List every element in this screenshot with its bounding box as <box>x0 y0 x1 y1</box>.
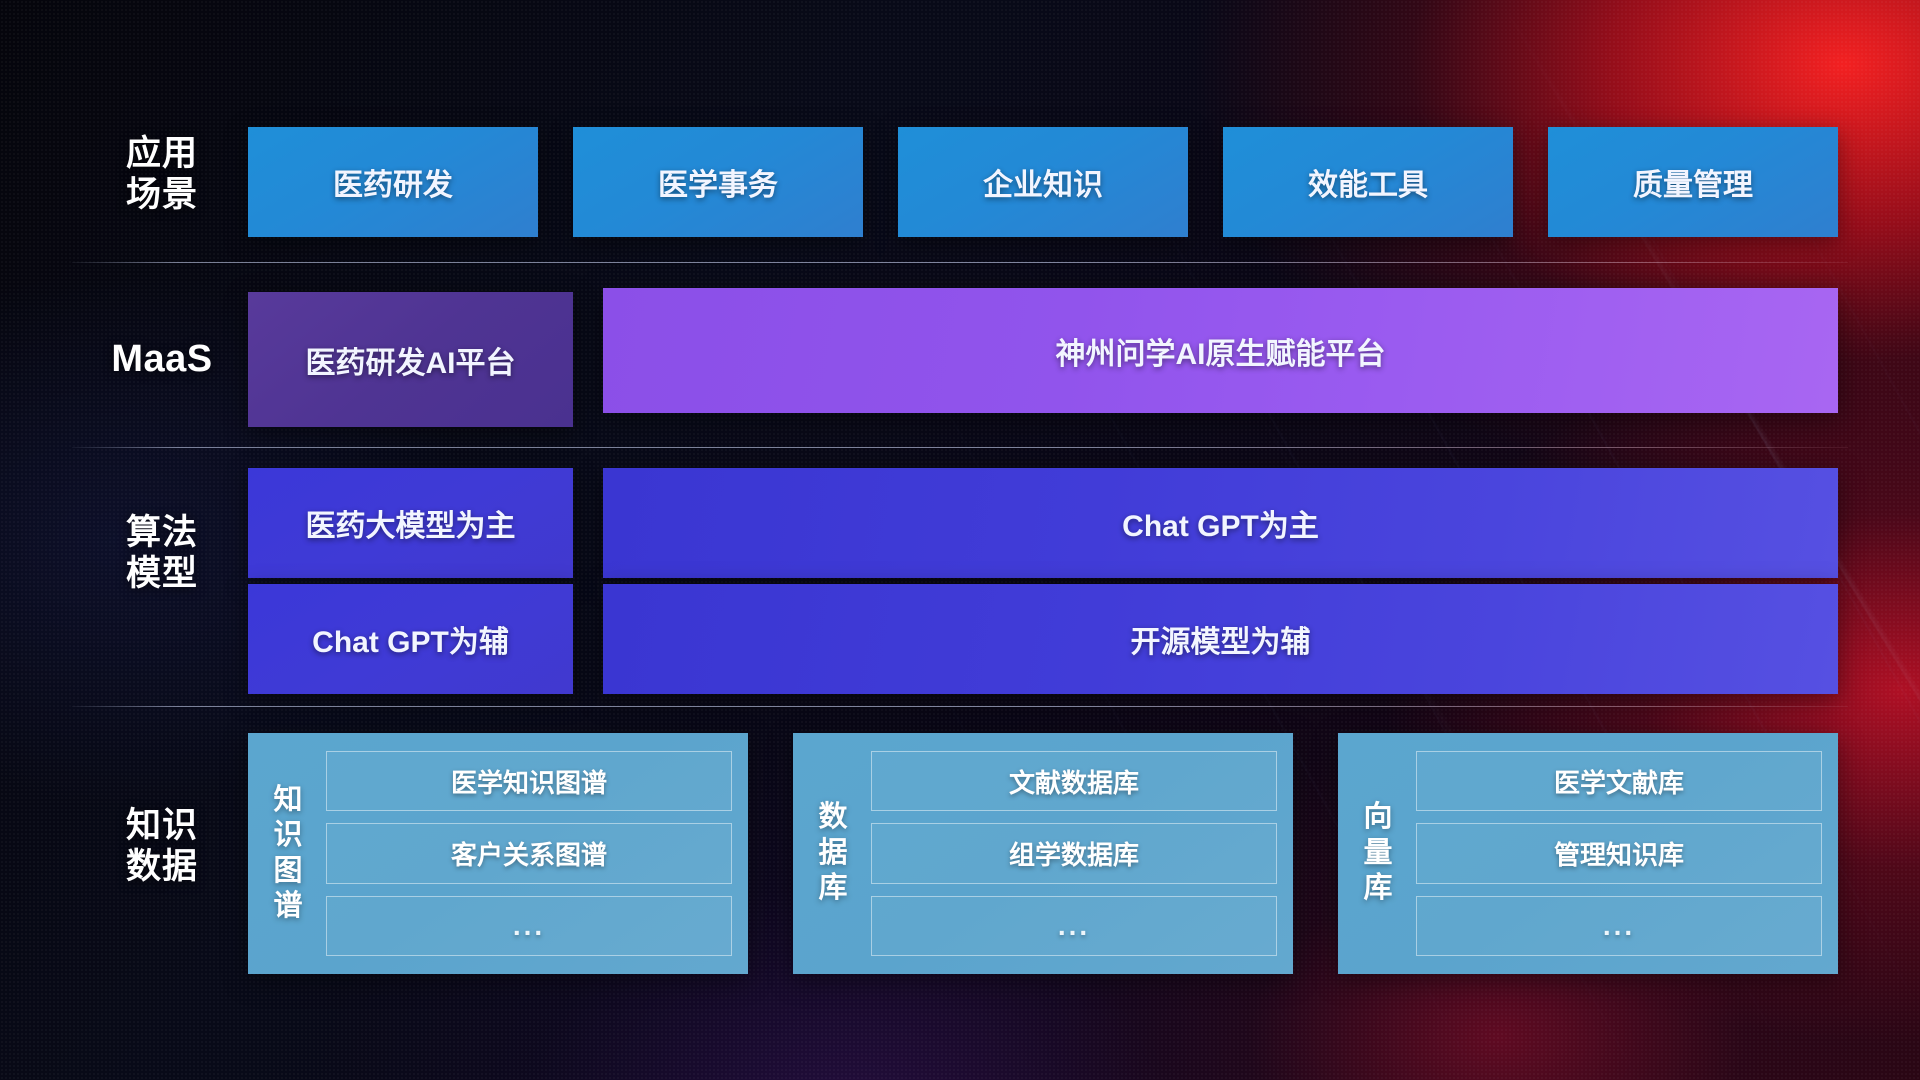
knowledge-item-list: 医学文献库 管理知识库 ... <box>1416 751 1822 956</box>
app-box-medical-affairs[interactable]: 医学事务 <box>573 127 863 237</box>
maas-box-drug-rnd-ai-platform[interactable]: 医药研发AI平台 <box>248 292 573 427</box>
knowledge-item-more-2[interactable]: ... <box>871 896 1277 956</box>
algo-box-pharma-llm-primary[interactable]: 医药大模型为主 <box>248 468 573 578</box>
app-box-enterprise-knowledge[interactable]: 企业知识 <box>898 127 1188 237</box>
knowledge-item-more-1[interactable]: ... <box>326 896 732 956</box>
divider-algorithm-knowledge <box>72 706 1848 707</box>
algo-box-chatgpt-secondary[interactable]: Chat GPT为辅 <box>248 584 573 694</box>
app-box-quality-management[interactable]: 质量管理 <box>1548 127 1838 237</box>
knowledge-card-knowledge-graph[interactable]: 知 识 图 谱 医学知识图谱 客户关系图谱 ... <box>248 733 748 974</box>
knowledge-item-medical-literature-store[interactable]: 医学文献库 <box>1416 751 1822 811</box>
knowledge-item-management-knowledge-store[interactable]: 管理知识库 <box>1416 823 1822 883</box>
knowledge-item-medical-knowledge-graph[interactable]: 医学知识图谱 <box>326 751 732 811</box>
maas-box-shenzhou-wenxue-platform[interactable]: 神州问学AI原生赋能平台 <box>603 288 1838 413</box>
slide-canvas: 应用 场景 医药研发 医学事务 企业知识 效能工具 质量管理 MaaS 医药研发… <box>0 0 1920 1080</box>
row-label-application: 应用 场景 <box>72 133 252 216</box>
algo-box-opensource-secondary[interactable]: 开源模型为辅 <box>603 584 1838 694</box>
row-label-algorithm: 算法 模型 <box>72 512 252 595</box>
knowledge-item-list: 文献数据库 组学数据库 ... <box>871 751 1277 956</box>
divider-application-maas <box>72 262 1848 263</box>
knowledge-item-list: 医学知识图谱 客户关系图谱 ... <box>326 751 732 956</box>
knowledge-card-database[interactable]: 数 据 库 文献数据库 组学数据库 ... <box>793 733 1293 974</box>
divider-maas-algorithm <box>72 447 1848 448</box>
row-label-maas: MaaS <box>72 337 252 382</box>
row-label-knowledge: 知识 数据 <box>72 805 252 888</box>
knowledge-card-title-knowledge-graph: 知 识 图 谱 <box>262 751 314 956</box>
knowledge-card-title-vector-store: 向 量 库 <box>1352 751 1404 956</box>
app-box-efficiency-tools[interactable]: 效能工具 <box>1223 127 1513 237</box>
architecture-diagram: 应用 场景 医药研发 医学事务 企业知识 效能工具 质量管理 MaaS 医药研发… <box>0 0 1920 1080</box>
knowledge-item-literature-database[interactable]: 文献数据库 <box>871 751 1277 811</box>
knowledge-item-more-3[interactable]: ... <box>1416 896 1822 956</box>
algo-box-chatgpt-primary[interactable]: Chat GPT为主 <box>603 468 1838 578</box>
knowledge-item-customer-relationship-graph[interactable]: 客户关系图谱 <box>326 823 732 883</box>
knowledge-card-title-database: 数 据 库 <box>807 751 859 956</box>
knowledge-item-omics-database[interactable]: 组学数据库 <box>871 823 1277 883</box>
knowledge-card-vector-store[interactable]: 向 量 库 医学文献库 管理知识库 ... <box>1338 733 1838 974</box>
app-box-drug-rnd[interactable]: 医药研发 <box>248 127 538 237</box>
